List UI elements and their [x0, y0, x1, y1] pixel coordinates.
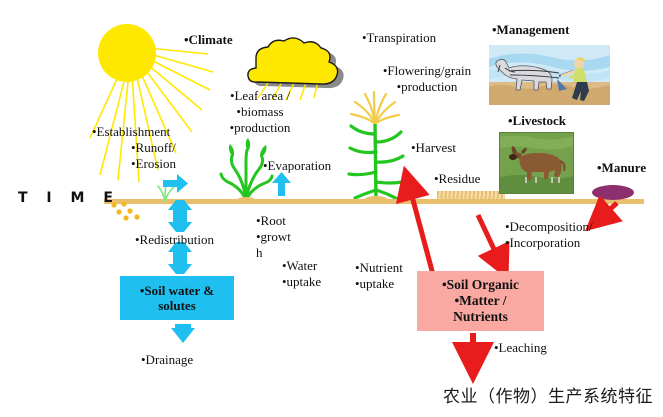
- label-climate: •Climate: [184, 32, 233, 48]
- manure-icon: [592, 185, 634, 200]
- label-root-growth: •Root •growt h: [256, 213, 291, 261]
- diagram-canvas: T I M E •Climate •Management •Livestock …: [0, 0, 663, 417]
- label-manure: •Manure: [597, 160, 646, 176]
- label-leaching: •Leaching: [494, 340, 547, 356]
- tiny-sprout-icon: [150, 178, 180, 202]
- label-harvest: •Harvest: [411, 140, 456, 156]
- label-water-uptake: •Water •uptake: [282, 258, 321, 290]
- label-evaporation: •Evaporation: [263, 158, 331, 174]
- label-transpiration: •Transpiration: [362, 30, 436, 46]
- label-drainage: •Drainage: [141, 352, 193, 368]
- soil-water-solutes-box[interactable]: •Soil water & solutes: [120, 276, 234, 320]
- label-nutrient-uptake: •Nutrient •uptake: [355, 260, 403, 292]
- label-flowering-grain: •Flowering/grain •production: [372, 63, 482, 95]
- label-runoff-erosion: •Runoff/ •Erosion: [131, 140, 176, 172]
- soil-organic-matter-box[interactable]: •Soil Organic •Matter / Nutrients: [417, 271, 544, 331]
- label-livestock: •Livestock: [508, 113, 566, 129]
- blue-updown-arrow-infiltration: [168, 200, 192, 232]
- label-decomposition: •Decomposition/ •Incorporation: [505, 219, 593, 251]
- red-down-arrow-residue: [478, 215, 500, 262]
- cow-image: [499, 132, 574, 194]
- label-residue: •Residue: [434, 171, 480, 187]
- label-management: •Management: [492, 22, 569, 38]
- seedling-icon: [216, 142, 276, 207]
- corn-plant-icon: [343, 90, 413, 207]
- horse-plow-image: [489, 45, 610, 105]
- soil-surface-line: [104, 199, 644, 204]
- chinese-caption: 农业（作物）生产系统特征: [443, 382, 658, 407]
- label-leaf-area-biomass: •Leaf area / •biomass •production: [212, 88, 308, 136]
- blue-down-arrow-drainage: [171, 324, 195, 343]
- label-redistribution: •Redistribution: [135, 232, 214, 248]
- red-down-left-arrow-manure: [600, 203, 617, 218]
- label-establishment: •Establishment: [92, 124, 170, 140]
- time-axis-label: T I M E: [18, 190, 120, 206]
